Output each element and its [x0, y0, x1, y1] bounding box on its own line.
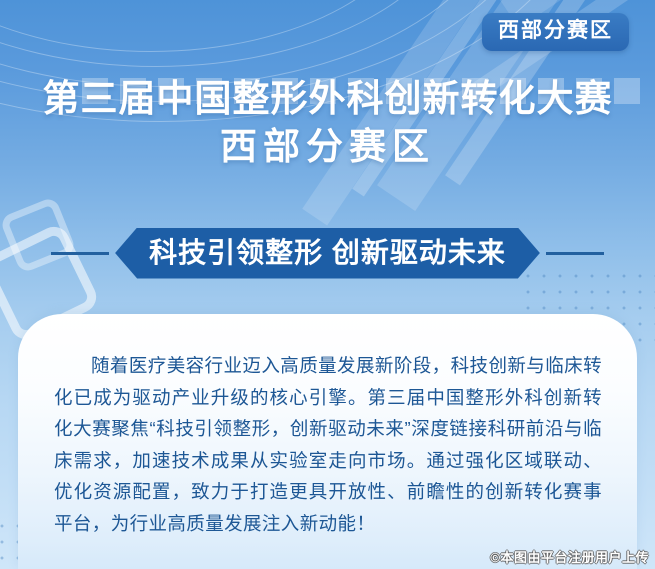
slogan-rule-left [51, 252, 109, 255]
poster-canvas: 西部分赛区 第三届中国整形外科创新转化大赛 西部分赛区 科技引领整形 创新驱动未… [0, 0, 655, 569]
arc-line-3 [0, 0, 507, 87]
title-block: 第三届中国整形外科创新转化大赛 西部分赛区 [0, 76, 655, 172]
slogan-row: 科技引领整形 创新驱动未来 [0, 228, 655, 278]
region-badge: 西部分赛区 [482, 13, 629, 51]
arc-line-2 [0, 0, 462, 67]
page-title-secondary: 西部分赛区 [0, 122, 655, 172]
upload-watermark: ©本图由平台注册用户上传 [490, 547, 649, 566]
slogan-banner: 科技引领整形 创新驱动未来 [115, 228, 540, 279]
intro-paragraph: 随着医疗美容行业迈入高质量发展新阶段，科技创新与临床转化已成为驱动产业升级的核心… [54, 350, 602, 539]
content-card: 随着医疗美容行业迈入高质量发展新阶段，科技创新与临床转化已成为驱动产业升级的核心… [18, 314, 637, 569]
page-title-primary: 第三届中国整形外科创新转化大赛 [0, 76, 655, 122]
arc-line-1 [0, 0, 422, 52]
slogan-rule-right [546, 252, 604, 255]
